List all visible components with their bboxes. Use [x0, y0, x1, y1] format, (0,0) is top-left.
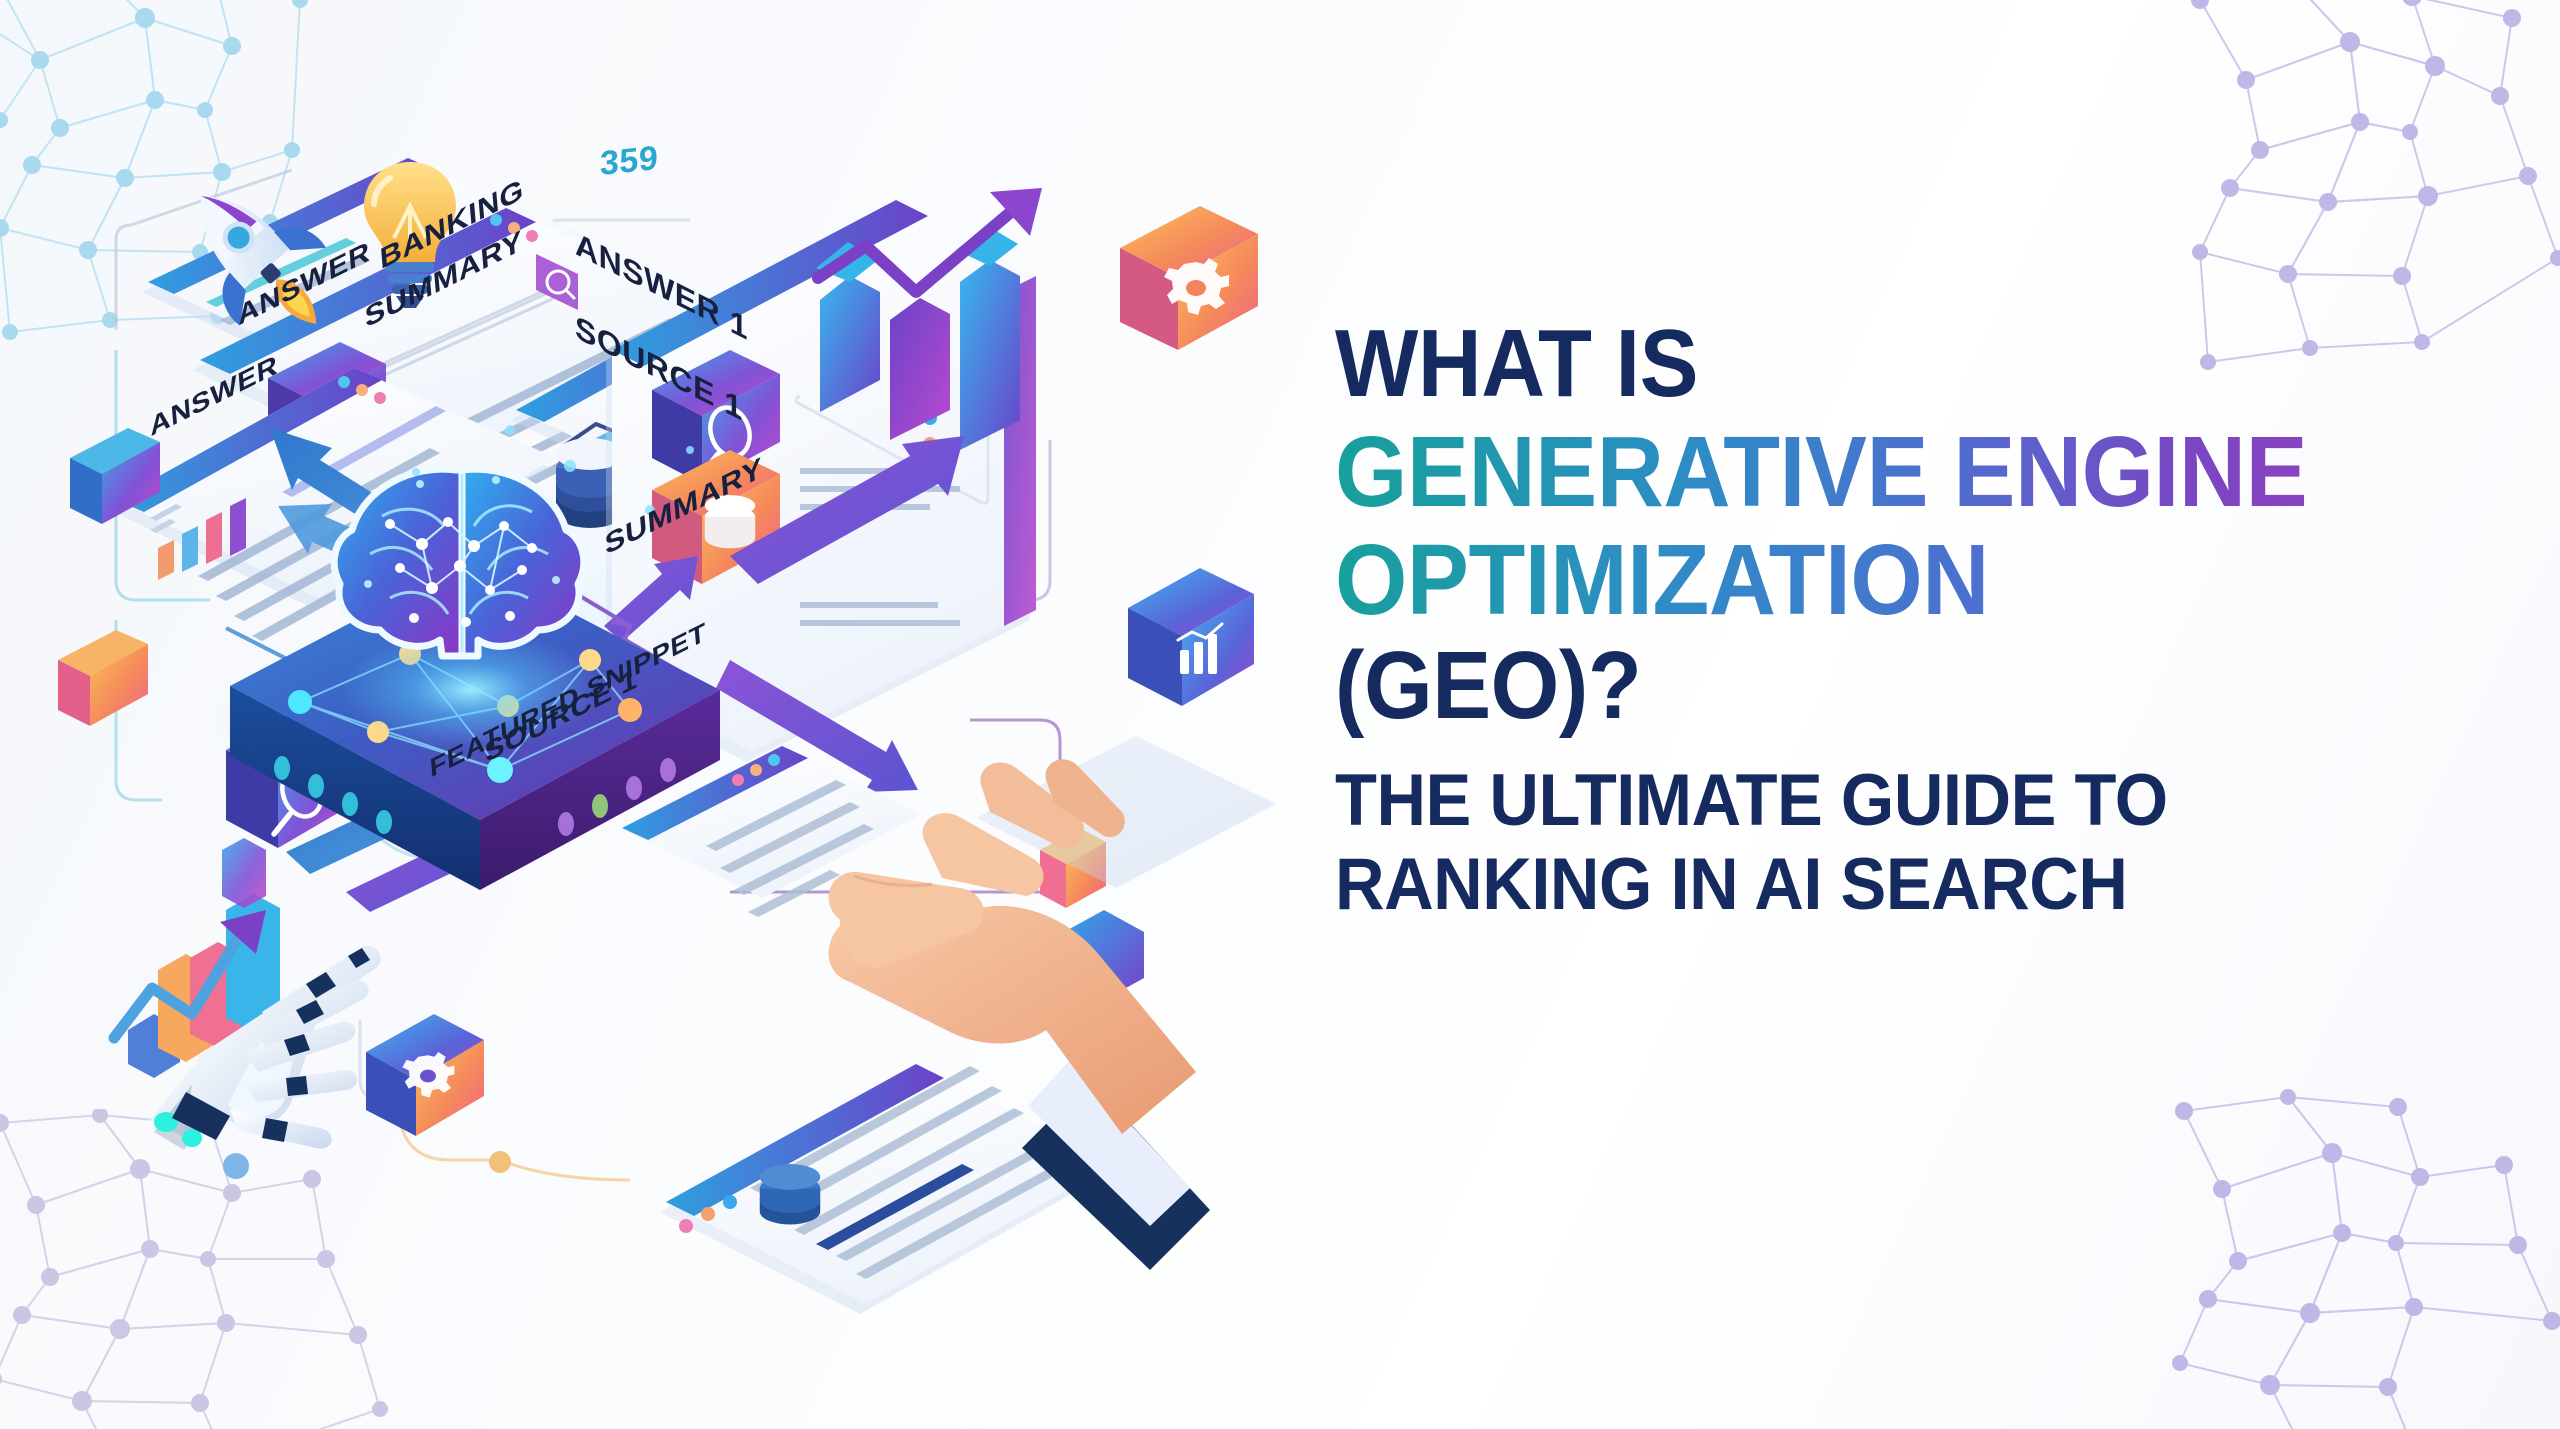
headline-line-1: WHAT IS — [1335, 318, 2421, 410]
brain-icon — [334, 469, 584, 656]
poster-canvas: ANSWER BANKING SUMMARY ANSWER ANSWER 1 S… — [0, 0, 2560, 1429]
gear-icon-right — [1120, 206, 1258, 350]
gear-icon-bottom — [366, 1014, 484, 1136]
hero-illustration: ANSWER BANKING SUMMARY ANSWER ANSWER 1 S… — [30, 20, 1360, 1410]
background-network-bottom-right — [2160, 1089, 2560, 1429]
subheadline-line-2: RANKING IN AI SEARCH — [1335, 846, 2444, 923]
headline-block: WHAT IS GENERATIVE ENGINE OPTIMIZATION (… — [1335, 318, 2515, 923]
headline-line-4: (GEO)? — [1335, 640, 2421, 732]
cube-marker — [222, 838, 266, 908]
tile-orange-left — [58, 630, 148, 726]
headline-line-2: GENERATIVE ENGINE — [1335, 424, 2432, 520]
headline-line-3: OPTIMIZATION — [1335, 532, 2432, 628]
bar-chart-icon — [1128, 568, 1254, 706]
subheadline-line-1: THE ULTIMATE GUIDE TO — [1335, 762, 2444, 839]
